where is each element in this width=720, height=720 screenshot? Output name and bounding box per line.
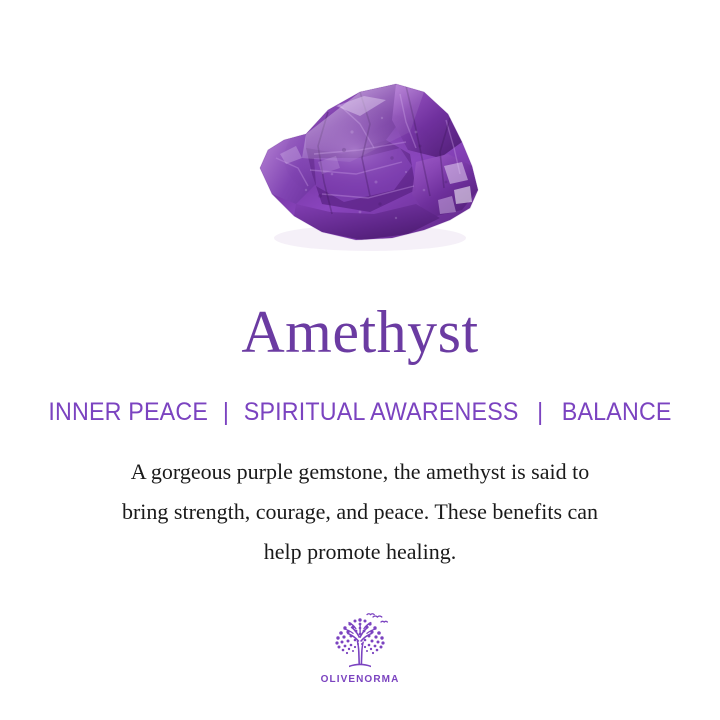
brand-name: OLIVENORMA: [0, 674, 720, 685]
amethyst-crystal-illustration: [210, 62, 510, 262]
gemstone-title: Amethyst: [0, 300, 720, 364]
description-line: help promote healing.: [52, 532, 668, 572]
keyword-separator: |: [214, 396, 237, 428]
olivenorma-tree-icon: [329, 612, 391, 672]
description-line: bring strength, courage, and peace. Thes…: [52, 492, 668, 532]
keyword-inner-peace: INNER PEACE: [48, 398, 208, 426]
gemstone-description: A gorgeous purple gemstone, the amethyst…: [52, 452, 668, 572]
product-info-card: Amethyst INNER PEACE | SPIRITUAL AWARENE…: [0, 0, 720, 720]
keyword-separator: |: [525, 396, 555, 428]
keyword-balance: BALANCE: [562, 398, 672, 426]
keyword-spiritual-awareness: SPIRITUAL AWARENESS: [244, 398, 519, 426]
bird-icon: [367, 614, 387, 622]
keyword-list: INNER PEACE | SPIRITUAL AWARENESS | BALA…: [25, 396, 695, 428]
description-line: A gorgeous purple gemstone, the amethyst…: [52, 452, 668, 492]
brand-logo[interactable]: OLIVENORMA: [0, 612, 720, 685]
amethyst-crystal-image: [0, 62, 720, 272]
